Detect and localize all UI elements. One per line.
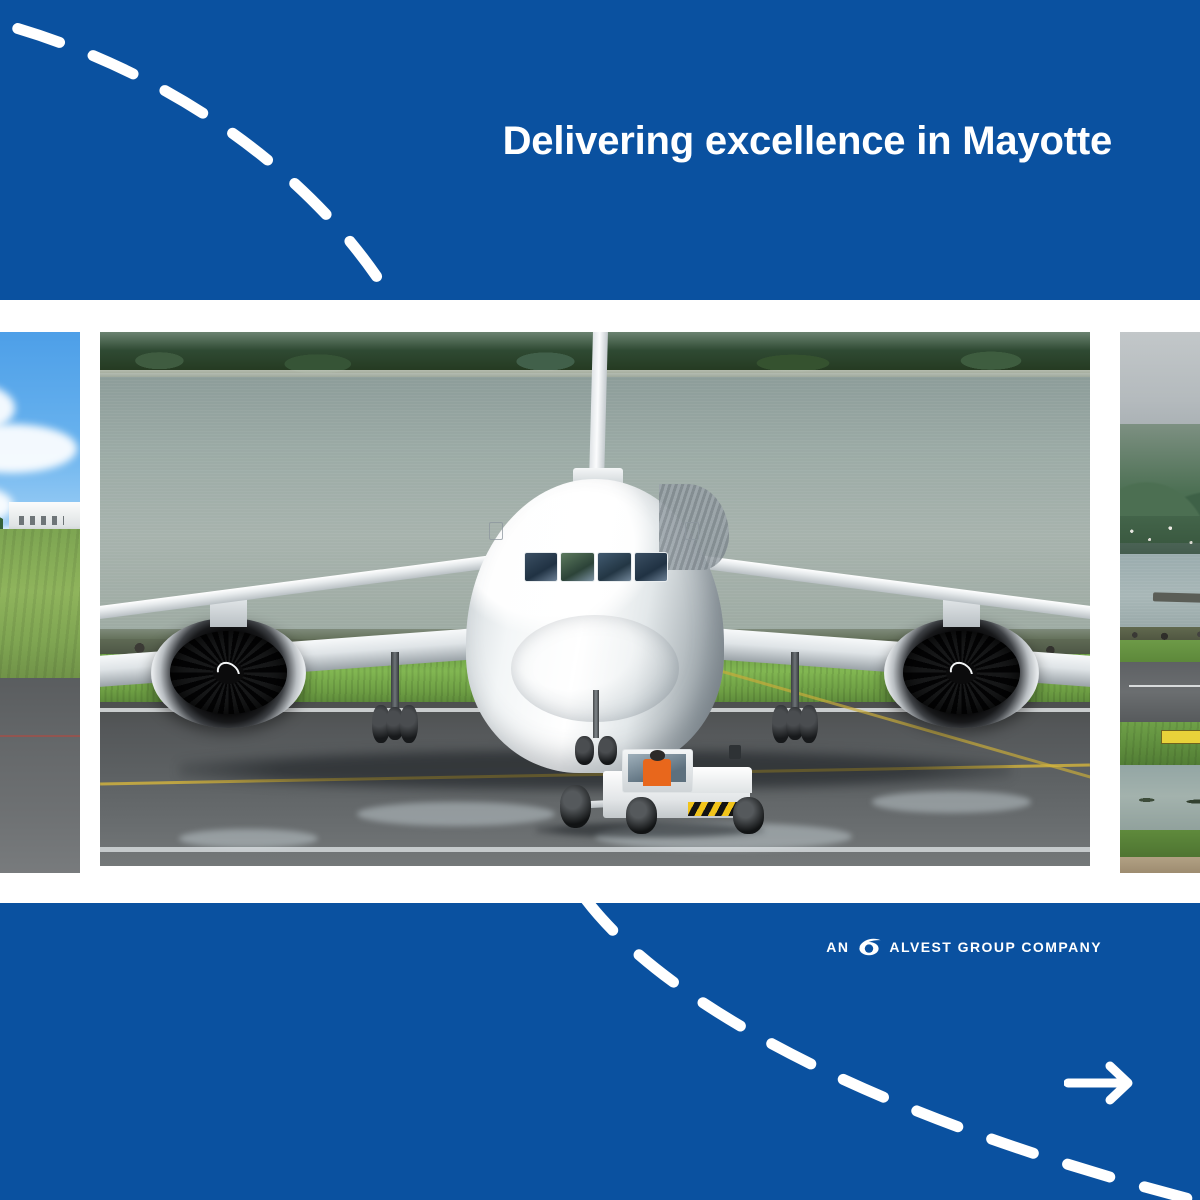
page-title: Delivering excellence in Mayotte [0,118,1112,165]
engine-left-icon [151,618,305,728]
tug-driver [643,759,671,785]
header-band: Delivering excellence in Mayotte [0,0,1200,300]
image-carousel[interactable] [0,332,1200,873]
slide-next-image [1120,332,1200,873]
alvest-eye-logo-icon [856,938,882,956]
arrow-right-icon[interactable] [1064,1060,1140,1106]
cockpit-windows [524,552,669,582]
slide-previous-image [0,332,80,873]
main-gear-left [372,652,418,743]
list-item[interactable] [1120,332,1200,873]
poster-canvas: Delivering excellence in Mayotte [0,0,1200,1200]
lockup-prefix: AN [826,939,849,955]
slide-main-image [100,332,1090,866]
list-item[interactable] [0,332,80,873]
pushback-tug [550,733,788,834]
alvest-group-lockup: AN ALVEST GROUP COMPANY [0,938,1102,956]
list-item[interactable] [100,332,1090,866]
main-gear-right [772,652,818,743]
lockup-suffix: ALVEST GROUP COMPANY [889,939,1102,955]
engine-right-icon [884,618,1038,728]
